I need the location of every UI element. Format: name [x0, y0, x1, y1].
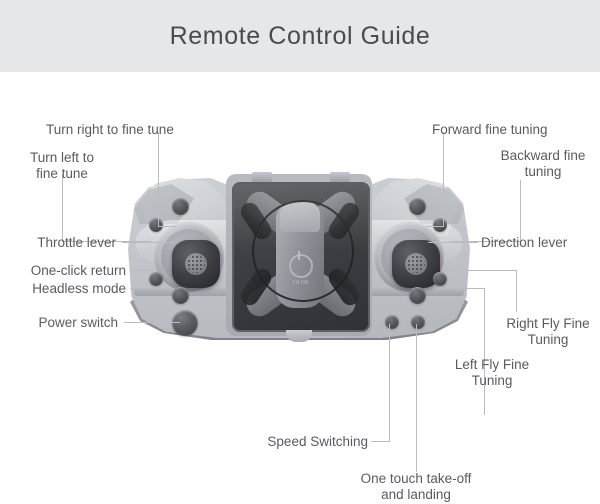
drone-bay-hinge-right [330, 172, 350, 182]
diagram-stage: MIKI [0, 72, 600, 456]
page-title: Remote Control Guide [170, 22, 431, 51]
leader-throttle-lever [122, 242, 174, 243]
leader-headless-mode [130, 288, 174, 289]
drone-bay-latch [286, 330, 312, 342]
joystick-cap-right [405, 253, 427, 275]
callout-speed-switching: Speed Switching [248, 434, 368, 450]
button-power-switch[interactable] [172, 310, 198, 336]
leader-one-touch-takeoff-v [416, 324, 417, 472]
leader-right-fly-fine-tuning-v [516, 270, 517, 312]
callout-direction-lever: Direction lever [481, 235, 599, 251]
joystick-cap-left [185, 253, 207, 275]
callout-turn-right-fine-tune: Turn right to fine tune [46, 122, 216, 138]
callout-right-fly-fine-tuning: Right Fly Fine Tuning [500, 316, 596, 349]
button-left-fly-fine-tuning[interactable] [411, 315, 425, 329]
joystick-ring-left [161, 229, 217, 285]
leader-speed-switching-h [371, 441, 390, 442]
leader-direction-lever [428, 242, 478, 243]
callout-one-click-return: One-click return [2, 263, 126, 279]
leader-left-fly-fine-tuning-h [438, 288, 485, 289]
joystick-texture-right [407, 255, 425, 273]
button-turn-left-fine-tune[interactable] [149, 218, 163, 232]
leader-one-click-return [130, 270, 156, 271]
leader-turn-left-fine-tune-v [62, 174, 63, 242]
button-one-click-return[interactable] [149, 272, 163, 286]
button-one-touch-takeoff[interactable] [385, 315, 399, 329]
joystick-ring-right [381, 229, 437, 285]
remote-controller-illustration: MIKI [118, 160, 480, 360]
callout-forward-fine-tuning: Forward fine tuning [432, 122, 592, 138]
button-backward-fine-tuning[interactable] [433, 218, 447, 232]
callout-throttle-lever: Throttle lever [10, 235, 116, 251]
callout-turn-left-fine-tune: Turn left to fine tune [8, 150, 116, 183]
button-headless-mode[interactable] [172, 287, 189, 304]
leader-backward-fine-tuning-v [520, 180, 521, 242]
leader-turn-right-fine-tune-v [158, 132, 159, 227]
callout-one-touch-takeoff: One touch take-off and landing [338, 471, 494, 504]
drone-bay-window: MIKI [232, 182, 370, 332]
throttle-lever-joystick[interactable] [154, 222, 224, 292]
leader-speed-switching-v [389, 324, 390, 442]
callout-power-switch: Power switch [12, 315, 118, 331]
callout-backward-fine-tuning: Backward fine tuning [489, 148, 597, 181]
joystick-knob-left [172, 240, 220, 288]
callout-left-fly-fine-tuning: Left Fly Fine Tuning [444, 357, 540, 390]
button-turn-right-fine-tune[interactable] [172, 198, 189, 215]
joystick-texture-left [187, 255, 205, 273]
drone-bay-hinge-left [252, 172, 272, 182]
callout-headless-mode: Headless mode [4, 281, 126, 297]
button-right-fly-fine-tuning[interactable] [433, 272, 447, 286]
leader-forward-fine-tuning-h [426, 226, 444, 227]
leader-turn-right-fine-tune-h [158, 226, 176, 227]
leader-power-switch [124, 322, 180, 323]
drone-bay-ring [252, 200, 354, 302]
leader-left-fly-fine-tuning-v [484, 288, 485, 415]
leader-forward-fine-tuning-v [443, 132, 444, 227]
button-forward-fine-tuning[interactable] [409, 198, 426, 215]
button-extra-right[interactable] [409, 287, 426, 304]
leader-right-fly-fine-tuning-h [444, 270, 516, 271]
header-bar: Remote Control Guide [0, 0, 600, 72]
